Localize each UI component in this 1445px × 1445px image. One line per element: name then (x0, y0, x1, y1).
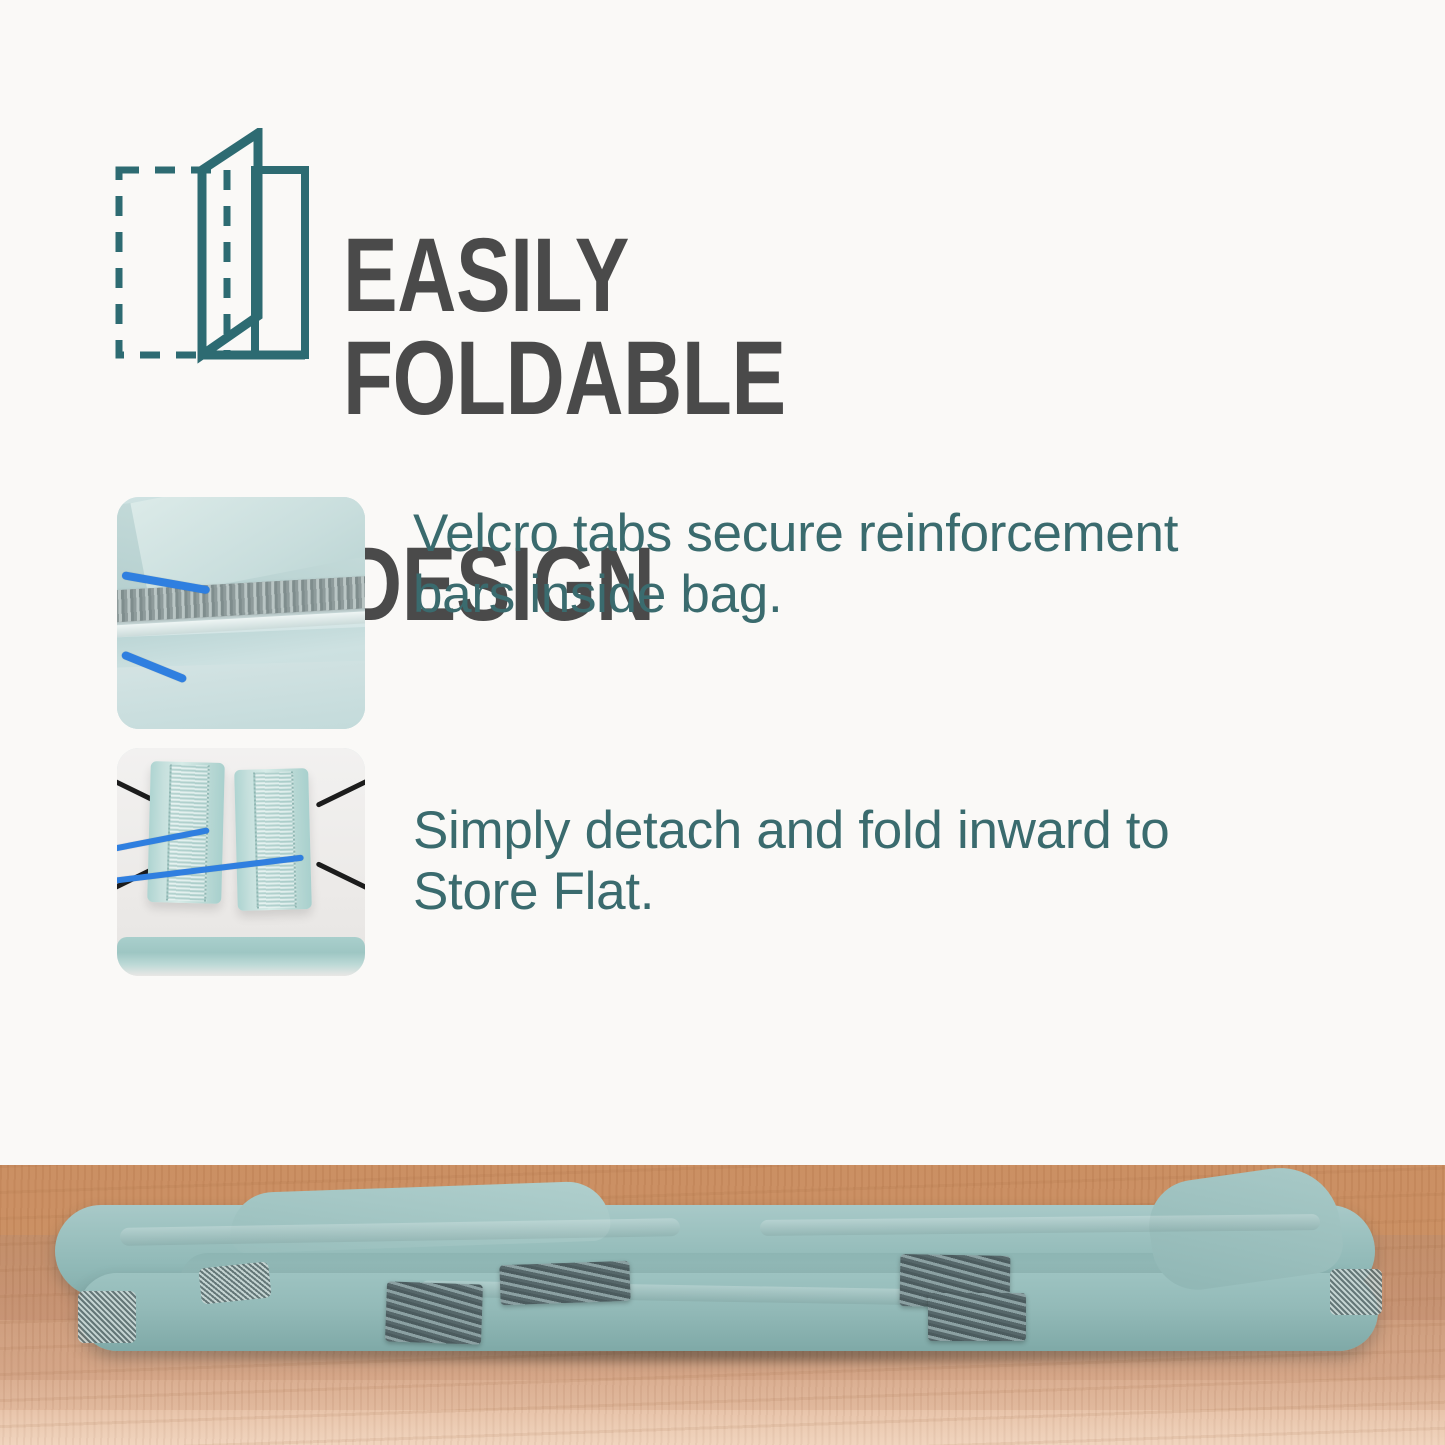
velcro-strip-closeup-photo (117, 497, 365, 729)
webbing-strap-2 (499, 1261, 630, 1306)
feature-row-store-flat: Simply detach and fold inward to Store F… (0, 748, 1445, 976)
webbing-strap-1 (385, 1281, 483, 1344)
header-section: EASILY FOLDABLE DESIGN (0, 0, 1445, 420)
feature-label-store-flat: Simply detach and fold inward to Store F… (413, 800, 1233, 923)
mesh-panel-left (78, 1291, 136, 1343)
infographic-page: EASILY FOLDABLE DESIGN Velcro tabs secur… (0, 0, 1445, 1445)
feature-label-velcro-tabs: Velcro tabs secure reinforcement bars in… (413, 503, 1233, 626)
velcro-patch-right (254, 771, 297, 908)
velcro-bars-detached-photo (117, 748, 365, 976)
webbing-strap-4 (928, 1293, 1026, 1341)
foldable-panel-icon (112, 128, 317, 373)
folded-bag-on-wood-photo (0, 1165, 1445, 1445)
table-edge (117, 937, 365, 976)
reinforcement-bar-right (234, 768, 312, 911)
mesh-panel-inner (198, 1261, 271, 1304)
feature-row-velcro-tabs: Velcro tabs secure reinforcement bars in… (0, 497, 1445, 729)
page-title-line-1: EASILY FOLDABLE (343, 225, 936, 431)
mesh-panel-right (1330, 1269, 1382, 1315)
